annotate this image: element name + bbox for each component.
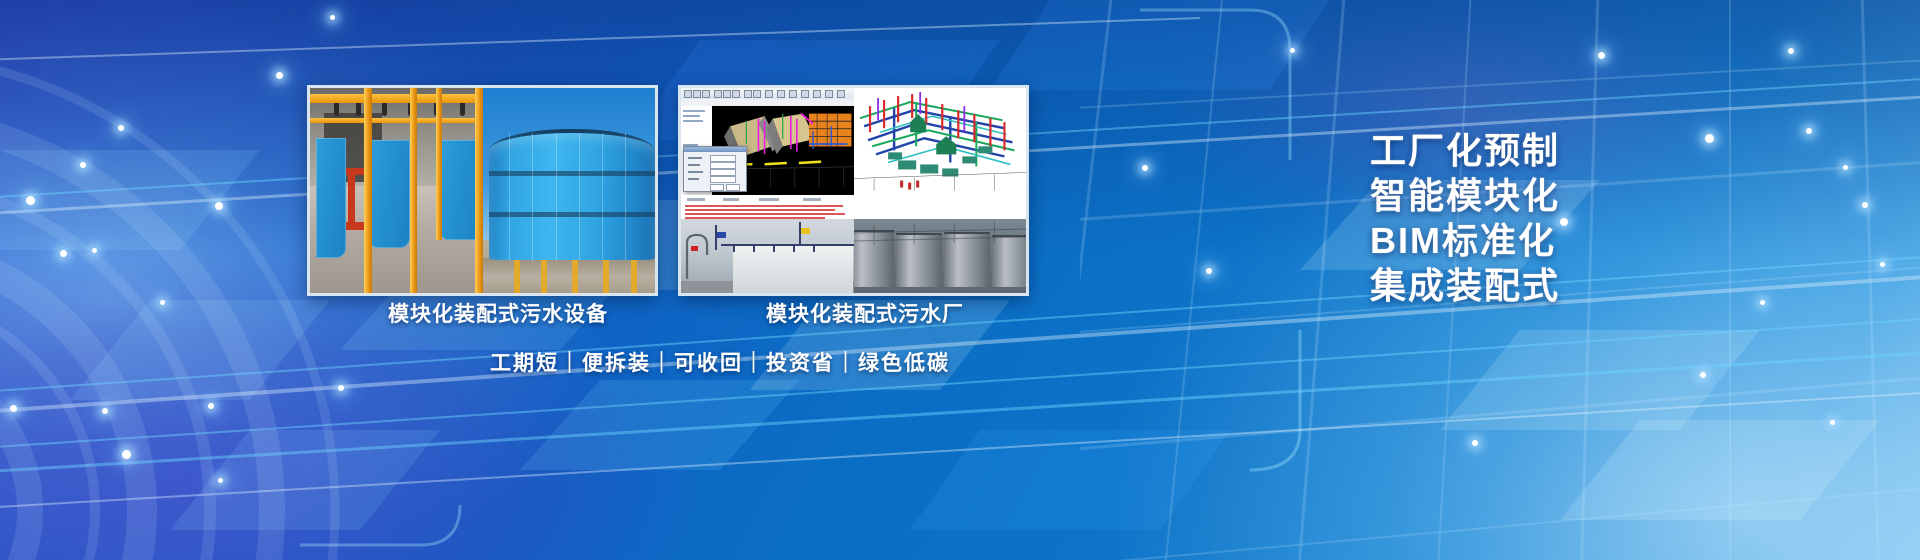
headline-line-3: BIM标准化 [1370,218,1790,263]
dialog-cancel-button[interactable] [726,184,740,191]
tank-seam [579,133,580,260]
tank-seam [625,133,626,260]
dialog-titlebar[interactable] [684,147,746,152]
bokeh-dot [1700,372,1706,378]
bokeh-dot [1862,202,1868,208]
toolbar-icon[interactable] [744,90,752,98]
tank-support-leg [631,260,637,293]
dialog-ok-button[interactable] [710,184,724,191]
bokeh-dot [1290,48,1295,53]
dialog-input[interactable] [710,162,736,169]
table-row [685,205,843,207]
gantry-top-beam [310,94,483,103]
toolbar-icon[interactable] [753,90,761,98]
table-row [685,213,845,215]
bokeh-dot [160,300,165,305]
tank-support-leg [541,260,547,293]
toolbar-icon[interactable] [693,90,701,98]
panel-plant[interactable] [678,85,1029,296]
toolbar-icon[interactable] [777,90,785,98]
tank-scene [483,88,656,293]
panel-equipment[interactable] [307,85,658,296]
tank-support-leg [514,260,520,293]
tank-bolt-ring [489,212,655,217]
toolbar-icon[interactable] [825,90,833,98]
bokeh-dot [102,408,108,414]
factory-scene [310,88,483,293]
gantry-column [410,88,417,293]
bokeh-dot [10,405,17,412]
promo-banner: 模块化装配式污水设备 模块化装配式污水厂 工期短｜便拆装｜可收回｜投资省｜绿色低… [0,0,1920,560]
headline-line-1: 工厂化预制 [1370,128,1790,173]
bokeh-dot [1806,128,1812,134]
bokeh-dot [80,162,86,168]
tank-support-leg [572,260,578,293]
cad-report-table [681,195,1026,220]
table-row [685,209,835,211]
bokeh-dot [1830,420,1835,425]
bokeh-dot [1843,165,1848,170]
bokeh-dot [60,250,67,257]
bokeh-dot [1598,52,1605,59]
dialog-label [688,171,703,173]
feature-tagline: 工期短｜便拆装｜可收回｜投资省｜绿色低碳 [490,347,950,377]
bokeh-dot [1788,48,1794,54]
tank-body [489,133,655,260]
tree-item[interactable] [683,110,705,112]
dialog-label [688,157,702,159]
bokeh-dot [122,450,131,459]
hanger-hook [460,103,465,116]
bokeh-dot [118,125,124,131]
tank-seam [602,133,603,260]
wastewater-plant-photo [681,219,854,293]
bokeh-dot [330,15,335,20]
tank-seam [509,133,510,260]
dialog-label [688,178,699,180]
tank-bolt-ring [489,171,655,176]
headline-block: 工厂化预制 智能模块化 BIM标准化 集成装配式 [1370,128,1790,308]
bokeh-dot [1880,262,1885,267]
toolbar-icon[interactable] [801,90,809,98]
bokeh-dot [1206,268,1212,274]
gantry-column [436,88,442,240]
red-steel-stand [348,172,355,224]
table-header-row [723,198,739,201]
toolbar-icon[interactable] [789,90,797,98]
construction-ground [483,258,656,293]
toolbar-icon[interactable] [723,90,731,98]
tank-seam [556,133,557,260]
tree-item[interactable] [683,120,703,122]
bim-piping-model [854,88,1027,195]
table-header-row [803,198,821,201]
gantry-rail [310,118,483,123]
hanger-hook [382,103,387,116]
panel-equipment-caption: 模块化装配式污水设备 [388,298,608,328]
tree-item[interactable] [683,115,700,117]
table-header-row [687,198,705,201]
dialog-input[interactable] [710,155,736,162]
gantry-column [475,88,483,293]
toolbar-icon[interactable] [813,90,821,98]
toolbar-icon[interactable] [702,90,710,98]
bokeh-dot [218,478,223,483]
bokeh-dot [338,385,344,391]
headline-line-2: 智能模块化 [1370,173,1790,218]
blue-steel-panel [368,140,410,248]
bokeh-dot [92,248,97,253]
gantry-column [364,88,372,293]
toolbar-icon[interactable] [684,90,692,98]
headline-line-4: 集成装配式 [1370,263,1790,308]
steel-tanks-photo [854,219,1027,293]
dialog-input[interactable] [710,169,736,176]
hanger-hook [356,103,361,116]
bolted-steel-tank-photo [483,88,656,293]
dialog-label [688,164,700,166]
toolbar-icon[interactable] [837,90,845,98]
bokeh-dot [1142,165,1148,171]
hanger-hook [334,103,339,116]
bokeh-dot [1472,440,1478,446]
blue-steel-panel [316,138,346,258]
factory-fabrication-photo [310,88,483,293]
panel-plant-caption: 模块化装配式污水厂 [766,298,964,328]
dialog-input[interactable] [710,176,736,183]
cad-properties-dialog[interactable] [683,146,747,192]
cad-software-screenshot [681,88,854,195]
tank-support-leg [603,260,609,293]
toolbar-icon[interactable] [765,90,773,98]
bokeh-dot [215,202,223,210]
toolbar-icon[interactable] [714,90,722,98]
bokeh-dot [26,196,35,205]
table-header-row [759,198,779,201]
toolbar-icon[interactable] [732,90,740,98]
bokeh-dot [208,403,214,409]
tank-seam [532,133,533,260]
bokeh-dot [276,72,283,79]
